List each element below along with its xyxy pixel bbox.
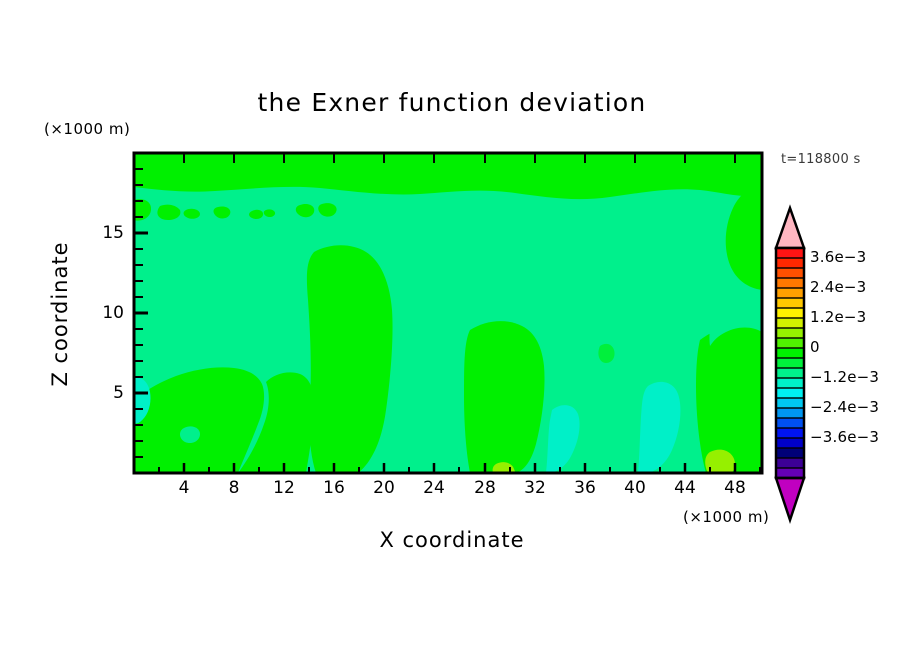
colorbar-band: [776, 408, 804, 419]
x-tick-label: 12: [264, 478, 304, 498]
colorbar-band: [776, 308, 804, 319]
colorbar-band: [776, 418, 804, 429]
x-tick-label: 4: [164, 478, 204, 498]
x-tick-label: 32: [515, 478, 555, 498]
colorbar-tick-label: −1.2e−3: [810, 368, 879, 386]
colorbar-band: [776, 358, 804, 369]
colorbar-band: [776, 288, 804, 299]
x-tick-label: 24: [414, 478, 454, 498]
x-tick-label: 48: [715, 478, 755, 498]
y-tick-label: 15: [84, 223, 124, 243]
colorbar-band: [776, 448, 804, 459]
colorbar-band: [776, 278, 804, 289]
colorbar-tick-label: 3.6e−3: [810, 248, 866, 266]
colorbar-band: [776, 338, 804, 349]
contour-field: [134, 153, 762, 473]
x-tick-label: 28: [465, 478, 505, 498]
colorbar-band: [776, 368, 804, 379]
colorbar-over-arrow: [776, 208, 804, 248]
colorbar-tick-label: 1.2e−3: [810, 308, 866, 326]
colorbar-tick-label: −2.4e−3: [810, 398, 879, 416]
colorbar-band: [776, 328, 804, 339]
x-tick-label: 16: [314, 478, 354, 498]
colorbar-band: [776, 438, 804, 449]
colorbar-under-arrow: [776, 478, 804, 520]
colorbar-tick-label: 0: [810, 338, 820, 356]
colorbar-band: [776, 348, 804, 359]
colorbar-band: [776, 258, 804, 269]
colorbar-band: [776, 388, 804, 399]
x-tick-label: 36: [565, 478, 605, 498]
colorbar-band: [776, 268, 804, 279]
figure-canvas: the Exner function deviation (×1000 m) (…: [0, 0, 904, 654]
x-tick-label: 40: [615, 478, 655, 498]
x-tick-label: 44: [665, 478, 705, 498]
colorbar-band: [776, 248, 804, 259]
colorbar-band: [776, 318, 804, 329]
y-tick-label: 5: [84, 383, 124, 403]
colorbar-band: [776, 458, 804, 469]
x-tick-label: 8: [214, 478, 254, 498]
y-tick-label: 10: [84, 303, 124, 323]
colorbar-bands: [776, 248, 804, 479]
colorbar-tick-label: −3.6e−3: [810, 428, 879, 446]
colorbar-band: [776, 298, 804, 309]
x-tick-label: 20: [364, 478, 404, 498]
colorbar-tick-label: 2.4e−3: [810, 278, 866, 296]
colorbar-band: [776, 398, 804, 409]
colorbar-band: [776, 378, 804, 389]
colorbar-band: [776, 428, 804, 439]
